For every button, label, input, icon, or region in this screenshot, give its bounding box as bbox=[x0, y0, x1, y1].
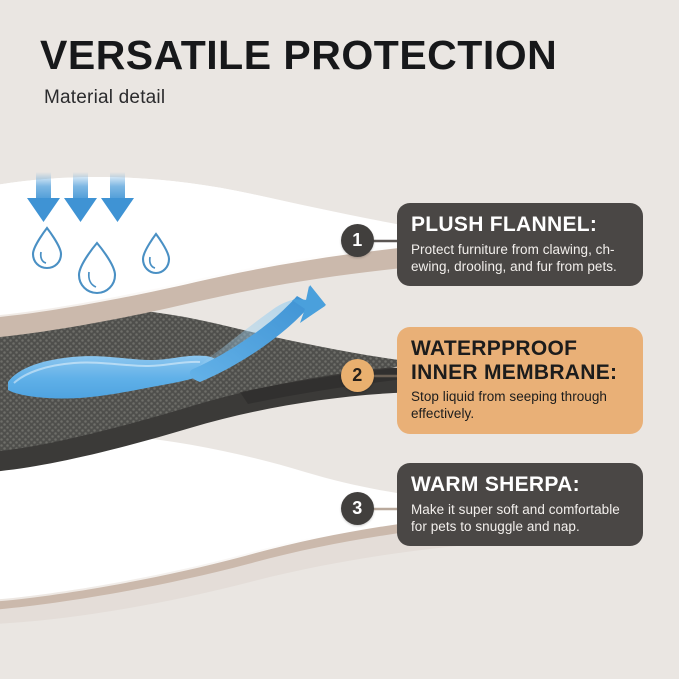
callout-badge-3[interactable]: 3 bbox=[341, 492, 374, 525]
callout-box-warm-sherpa[interactable]: WARM SHERPA: Make it super soft and comf… bbox=[397, 463, 643, 546]
callout-badge-2[interactable]: 2 bbox=[341, 359, 374, 392]
callout-badge-1[interactable]: 1 bbox=[341, 224, 374, 257]
infographic-canvas: VERSATILE PROTECTION Material detail bbox=[0, 0, 679, 679]
callout-body-1: Protect furniture from clawing, ch-ewing… bbox=[411, 241, 629, 276]
down-arrow-icons bbox=[27, 172, 134, 222]
callout-title-3: WARM SHERPA: bbox=[411, 473, 629, 497]
callout-box-waterproof-membrane[interactable]: WATERPPROOF INNER MEMBRANE: Stop liquid … bbox=[397, 327, 643, 434]
callout-box-plush-flannel[interactable]: PLUSH FLANNEL: Protect furniture from cl… bbox=[397, 203, 643, 286]
callout-title-1: PLUSH FLANNEL: bbox=[411, 213, 629, 237]
waterproof-membrane-layer bbox=[0, 306, 432, 472]
callout-body-3: Make it super soft and comfortable for p… bbox=[411, 501, 629, 536]
callout-title-2: WATERPPROOF INNER MEMBRANE: bbox=[411, 337, 629, 384]
callout-body-2: Stop liquid from seeping through effecti… bbox=[411, 388, 629, 423]
